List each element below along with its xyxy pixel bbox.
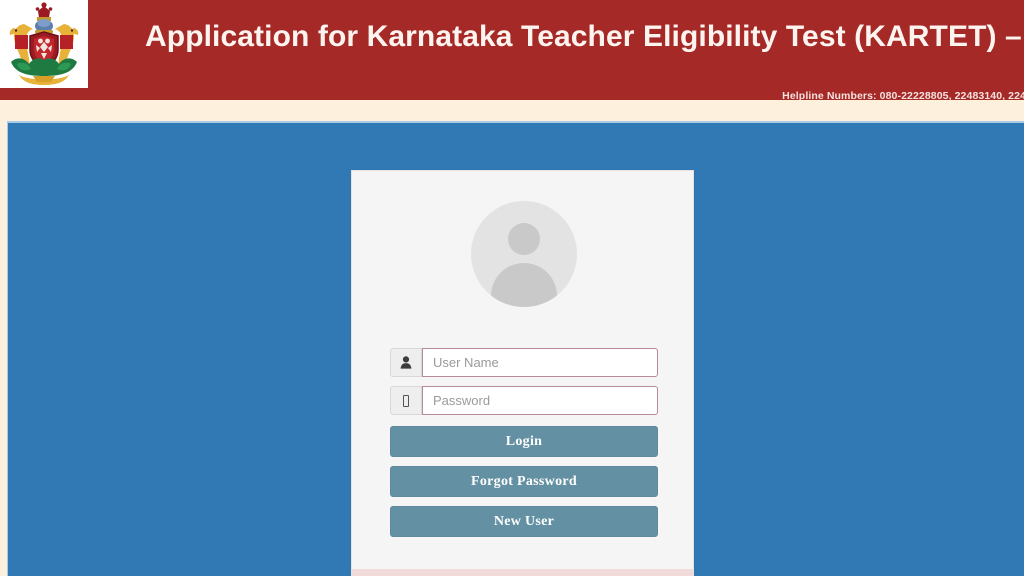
password-row xyxy=(390,386,658,415)
username-input[interactable] xyxy=(422,348,658,377)
page-header: Application for Karnataka Teacher Eligib… xyxy=(0,0,1024,100)
username-row xyxy=(390,348,658,377)
avatar xyxy=(352,201,695,307)
new-user-button[interactable]: New User xyxy=(390,506,658,537)
page-title: Application for Karnataka Teacher Eligib… xyxy=(145,17,1024,57)
login-form: Login Forgot Password New User xyxy=(390,348,658,537)
login-card: Login Forgot Password New User xyxy=(351,170,694,570)
avatar-head xyxy=(508,223,540,255)
helpline-numbers: Helpline Numbers: 080-22228805, 22483140… xyxy=(782,90,1024,100)
lock-glyph-fallback xyxy=(403,395,409,407)
forgot-password-button[interactable]: Forgot Password xyxy=(390,466,658,497)
page-root: Application for Karnataka Teacher Eligib… xyxy=(0,0,1024,576)
karnataka-state-emblem-icon xyxy=(0,0,88,88)
avatar-body xyxy=(491,263,557,307)
user-icon xyxy=(390,348,422,377)
main-content: Login Forgot Password New User xyxy=(7,121,1024,576)
login-card-bottom-strip xyxy=(351,569,694,576)
login-button[interactable]: Login xyxy=(390,426,658,457)
lock-icon xyxy=(390,386,422,415)
header-separator-strip xyxy=(0,100,1024,121)
user-avatar-placeholder-icon xyxy=(471,201,577,307)
password-input[interactable] xyxy=(422,386,658,415)
